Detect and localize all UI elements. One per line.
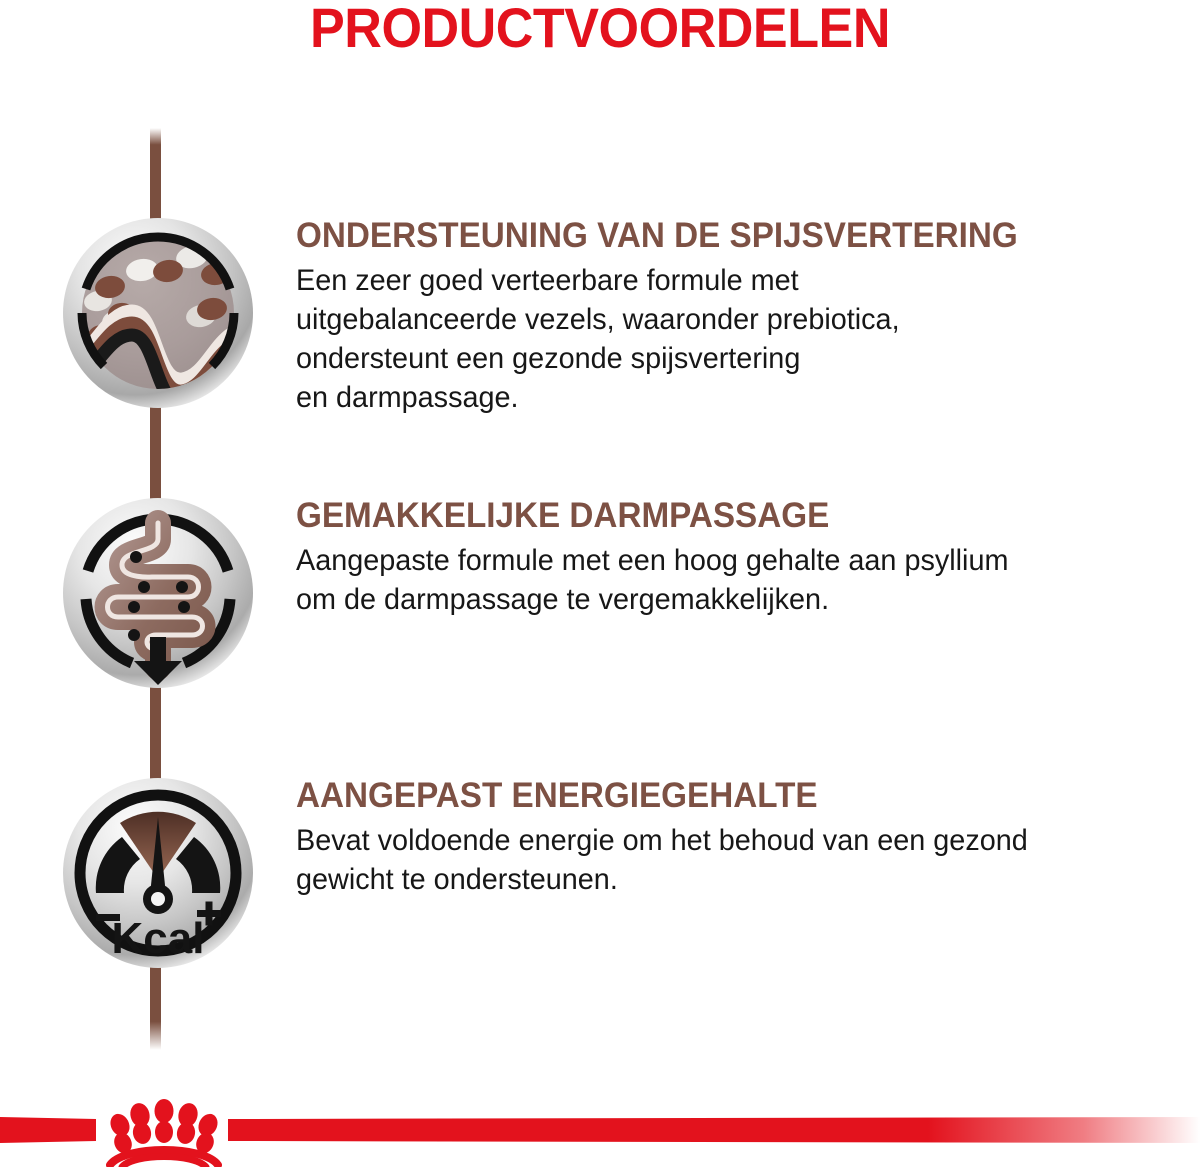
footer-bar-right <box>228 1117 1200 1143</box>
connector-line-2-3 <box>150 676 161 786</box>
page-title: PRODUCTVOORDELEN <box>42 0 1158 60</box>
benefit-text-transit: GEMAKKELIJKE DARMPASSAGE Aangepaste form… <box>296 495 1200 619</box>
intestinal-transit-icon <box>60 495 256 691</box>
footer-brand-bar <box>0 1099 1200 1167</box>
digestion-icon <box>60 215 256 411</box>
benefit-heading: ONDERSTEUNING VAN DE SPIJSVERTERING <box>296 215 1156 257</box>
benefit-body: Aangepaste formule met een hoog gehalte … <box>296 541 1165 619</box>
footer-bar-left <box>0 1117 96 1143</box>
benefit-text-digestion: ONDERSTEUNING VAN DE SPIJSVERTERING Een … <box>296 215 1200 417</box>
svg-text:Kcal: Kcal <box>112 914 205 963</box>
benefit-body: Een zeer goed verteerbare formule met ui… <box>296 261 1165 417</box>
benefit-heading: AANGEPAST ENERGIEGEHALTE <box>296 775 1156 817</box>
benefit-heading: GEMAKKELIJKE DARMPASSAGE <box>296 495 1156 537</box>
product-benefits-page: PRODUCTVOORDELEN <box>0 0 1200 1167</box>
benefit-body: Bevat voldoende energie om het behoud va… <box>296 821 1165 899</box>
kcal-gauge-icon: Kcal <box>60 775 256 971</box>
royal-canin-crown-logo <box>96 1099 232 1167</box>
benefit-text-energy: AANGEPAST ENERGIEGEHALTE Bevat voldoende… <box>296 775 1200 899</box>
